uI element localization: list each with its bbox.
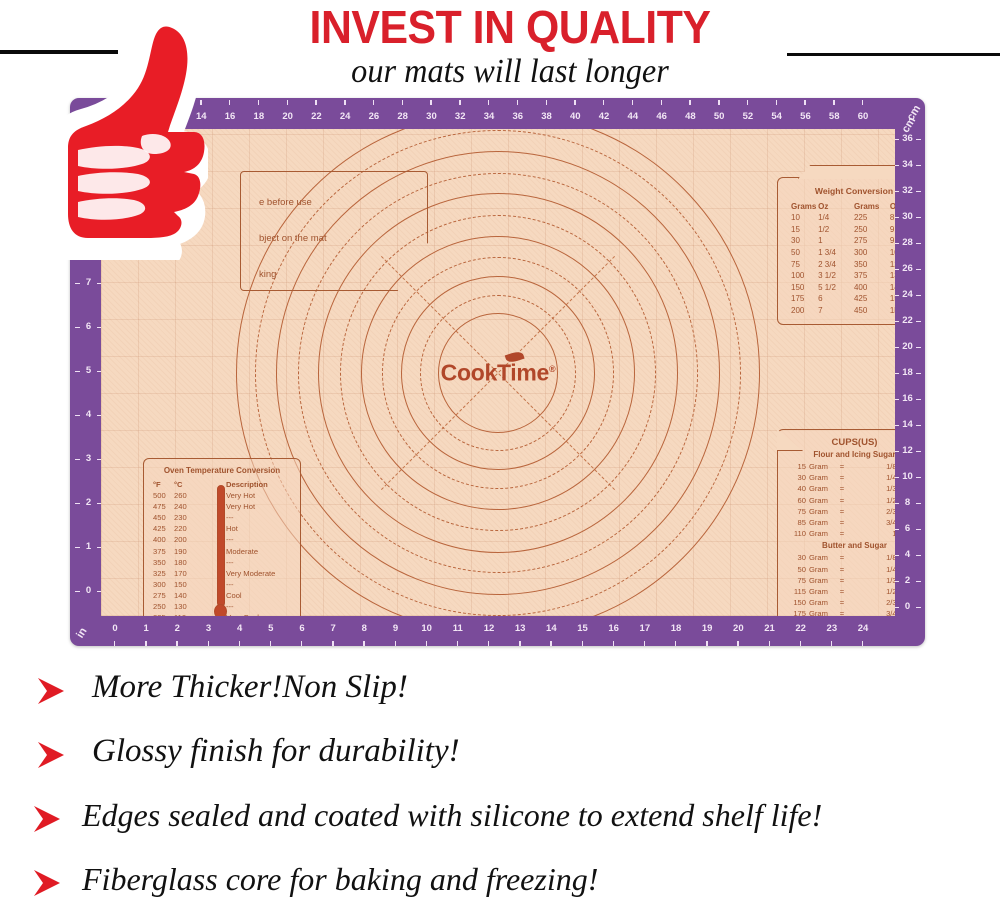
table-cell: = bbox=[836, 552, 848, 563]
in-left-tick: 2 bbox=[77, 496, 100, 510]
cm-top-tick: 60 bbox=[851, 106, 875, 128]
table-cell: 275 bbox=[150, 590, 174, 601]
table-cell: 225 bbox=[854, 213, 890, 225]
table-cell: 425 bbox=[854, 294, 890, 306]
table-cell: 40 bbox=[784, 483, 806, 494]
logo-text: CookTime bbox=[441, 359, 549, 385]
table-cell: 60 bbox=[784, 495, 806, 506]
table-cell: 1 bbox=[818, 236, 854, 248]
cm-right-tick: 18 bbox=[896, 366, 919, 380]
table-cell: 2 3/4 bbox=[818, 259, 854, 271]
cm-top-tick: 20 bbox=[276, 106, 300, 128]
table-cell: 1lb bbox=[890, 305, 895, 317]
table-cell: 170 bbox=[174, 568, 200, 579]
subheadline: our mats will last longer bbox=[235, 53, 786, 91]
table-row: 1003 1/237513 bbox=[785, 271, 895, 283]
in-bottom-tick: 19 bbox=[695, 618, 719, 640]
in-bottom-tick: 17 bbox=[633, 618, 657, 640]
table-cell: 110 bbox=[784, 528, 806, 539]
table-cell: Gram bbox=[806, 517, 836, 528]
thermometer-stem bbox=[217, 485, 225, 607]
table-cell: Gram bbox=[806, 564, 836, 575]
oven-temperature-panel: Oven Temperature Conversion °F°CDescript… bbox=[143, 458, 301, 616]
cooktime-logo: CookTime® bbox=[441, 359, 556, 386]
table-row: 3012759 3/4 bbox=[785, 236, 895, 248]
table-cell: 1/2 bbox=[818, 224, 854, 236]
table-cell: 2/3 cup bbox=[848, 506, 895, 517]
table-cell: 150 bbox=[174, 579, 200, 590]
table-cell: = bbox=[836, 575, 848, 586]
cm-right-tick: 12 bbox=[896, 444, 919, 458]
table-cell: 50 bbox=[785, 247, 818, 259]
oven-temperature-title: Oven Temperature Conversion bbox=[150, 466, 294, 475]
cm-right-tick: 24 bbox=[896, 288, 919, 302]
table-row: 501 3/430010 1/2 bbox=[785, 247, 895, 259]
play-arrow-icon bbox=[34, 870, 60, 896]
table-cell: 240 bbox=[174, 501, 200, 512]
list-item: 115Gram=1/2 cup bbox=[784, 586, 895, 597]
play-arrow-icon bbox=[38, 742, 64, 768]
cm-right-tick: 16 bbox=[896, 392, 919, 406]
cm-right-tick: 32 bbox=[896, 184, 919, 198]
table-cell: 260 bbox=[174, 490, 200, 501]
in-left-tick: 4 bbox=[77, 408, 100, 422]
table-cell: 300 bbox=[150, 579, 174, 590]
care-note-line-1: e before use bbox=[259, 196, 421, 210]
cm-right-tick: 2 bbox=[896, 574, 919, 588]
cm-top-tick: 24 bbox=[333, 106, 357, 128]
table-cell: 190 bbox=[174, 546, 200, 557]
care-note-line-2: bject on the mat bbox=[259, 232, 421, 246]
cm-top-tick: 28 bbox=[391, 106, 415, 128]
table-cell: 1/8 cup bbox=[848, 552, 895, 563]
cm-top-tick: 18 bbox=[247, 106, 271, 128]
table-cell: 14 bbox=[890, 282, 895, 294]
table-cell: 9 bbox=[890, 224, 895, 236]
column-header: Grams bbox=[785, 201, 818, 213]
list-item: 75Gram=2/3 cup bbox=[784, 506, 895, 517]
cm-top-tick: 26 bbox=[362, 106, 386, 128]
in-left-tick: 0 bbox=[77, 584, 100, 598]
table-cell: 6 bbox=[818, 294, 854, 306]
table-cell: 50 bbox=[784, 564, 806, 575]
mat-surface: CookTime® e before use bject on the mat … bbox=[101, 129, 895, 616]
feature-list: More Thicker!Non Slip! Glossy finish for… bbox=[0, 660, 1000, 916]
list-item: Edges sealed and coated with silicone to… bbox=[0, 788, 1000, 852]
cm-right-tick: 14 bbox=[896, 418, 919, 432]
cm-right-tick: 30 bbox=[896, 210, 919, 224]
table-cell: 450 bbox=[150, 512, 174, 523]
in-bottom-tick: 9 bbox=[384, 618, 408, 640]
in-bottom-tick: 1 bbox=[134, 618, 158, 640]
table-cell: Gram bbox=[806, 472, 836, 483]
table-cell: 200 bbox=[174, 534, 200, 545]
table-row: 175642515 bbox=[785, 294, 895, 306]
table-cell: = bbox=[836, 597, 848, 608]
column-header: Grams bbox=[854, 201, 890, 213]
in-bottom-tick: 24 bbox=[851, 618, 875, 640]
table-cell: 200 bbox=[785, 305, 818, 317]
table-cell: 8 bbox=[890, 213, 895, 225]
table-cell: Gram bbox=[806, 586, 836, 597]
list-item: 15Gram=1/8 cup bbox=[784, 461, 895, 472]
table-cell: 350 bbox=[150, 557, 174, 568]
table-cell: Gram bbox=[806, 552, 836, 563]
in-left-tick: 1 bbox=[77, 540, 100, 554]
cm-right-tick: 26 bbox=[896, 262, 919, 276]
in-bottom-tick: 18 bbox=[664, 618, 688, 640]
care-note-line-3: king bbox=[259, 268, 421, 282]
list-item: More Thicker!Non Slip! bbox=[0, 660, 1000, 724]
in-bottom-tick: 16 bbox=[602, 618, 626, 640]
table-cell: 225 bbox=[150, 612, 174, 616]
list-item: 40Gram=1/3 cup bbox=[784, 483, 895, 494]
table-row: 1505 1/240014 bbox=[785, 282, 895, 294]
table-cell: = bbox=[836, 528, 848, 539]
table-cell: 1/8 cup bbox=[848, 461, 895, 472]
table-cell: 140 bbox=[174, 590, 200, 601]
ruler-right-cm: 024681012141618202224262830323436cm bbox=[896, 129, 919, 616]
cm-right-tick: 0 bbox=[896, 600, 919, 614]
cm-top-tick: 50 bbox=[707, 106, 731, 128]
headline: INVEST IN QUALITY bbox=[255, 3, 765, 51]
table-cell: 400 bbox=[150, 534, 174, 545]
table-cell: 3 1/2 bbox=[818, 271, 854, 283]
table-cell: 30 bbox=[784, 472, 806, 483]
table-cell: 300 bbox=[854, 247, 890, 259]
cm-top-tick: 48 bbox=[678, 106, 702, 128]
cm-right-tick: 22 bbox=[896, 314, 919, 328]
column-header: °F bbox=[150, 479, 174, 490]
list-item: 85Gram=3/4 cup bbox=[784, 517, 895, 528]
table-cell: 325 bbox=[150, 568, 174, 579]
panel-notch bbox=[798, 165, 895, 179]
registered-mark: ® bbox=[549, 363, 555, 373]
feature-text: More Thicker!Non Slip! bbox=[92, 664, 408, 710]
in-bottom-tick: 5 bbox=[259, 618, 283, 640]
ruler-top-cm: 8101214161820222426283032343638404244464… bbox=[101, 106, 895, 128]
feature-text: Fiberglass core for baking and freezing! bbox=[82, 856, 598, 902]
table-cell: 1/2 cup bbox=[848, 586, 895, 597]
table-cell: 150 bbox=[785, 282, 818, 294]
weight-conversion-panel: Weight Conversion GramsOzGramsOz101/4225… bbox=[777, 177, 895, 325]
cm-right-tick: 8 bbox=[896, 496, 919, 510]
in-bottom-tick: 4 bbox=[228, 618, 252, 640]
table-row: 101/42258 bbox=[785, 213, 895, 225]
table-cell: 75 bbox=[784, 575, 806, 586]
list-item: 75Gram=1/3 cup bbox=[784, 575, 895, 586]
table-row: 151/22509 bbox=[785, 224, 895, 236]
table-cell: 425 bbox=[150, 523, 174, 534]
table-cell: 180 bbox=[174, 557, 200, 568]
table-cell: Gram bbox=[806, 495, 836, 506]
in-bottom-tick: 6 bbox=[290, 618, 314, 640]
cups-section1-title: Flour and Icing Sugar bbox=[784, 450, 895, 459]
cm-top-tick: 40 bbox=[563, 106, 587, 128]
table-cell: 275 bbox=[854, 236, 890, 248]
in-bottom-tick: 22 bbox=[789, 618, 813, 640]
column-header: °C bbox=[174, 479, 200, 490]
table-cell: 150 bbox=[784, 597, 806, 608]
table-cell: 15 bbox=[784, 461, 806, 472]
list-item: 50Gram=1/4 cup bbox=[784, 564, 895, 575]
table-cell: 15 bbox=[785, 224, 818, 236]
table-cell: Gram bbox=[806, 528, 836, 539]
table-cell: 175 bbox=[785, 294, 818, 306]
cm-top-tick: 38 bbox=[535, 106, 559, 128]
list-item: 30Gram=1/8 cup bbox=[784, 552, 895, 563]
cm-top-tick: 34 bbox=[477, 106, 501, 128]
play-arrow-icon bbox=[38, 678, 64, 704]
thermometer-icon bbox=[214, 485, 227, 616]
table-cell: 175 bbox=[784, 608, 806, 616]
list-item: Glossy finish for durability! bbox=[0, 724, 1000, 788]
table-cell: Gram bbox=[806, 575, 836, 586]
list-item: 150Gram=2/3 cup bbox=[784, 597, 895, 608]
table-cell: Gram bbox=[806, 506, 836, 517]
in-left-tick: 3 bbox=[77, 452, 100, 466]
table-cell: 1 3/4 bbox=[818, 247, 854, 259]
cm-right-tick: 20 bbox=[896, 340, 919, 354]
table-cell: 230 bbox=[174, 512, 200, 523]
in-bottom-tick: 2 bbox=[165, 618, 189, 640]
in-bottom-tick: 0 bbox=[103, 618, 127, 640]
table-cell: 75 bbox=[785, 259, 818, 271]
cm-right-tick: 4 bbox=[896, 548, 919, 562]
in-left-tick: 6 bbox=[77, 320, 100, 334]
cm-top-tick: 44 bbox=[621, 106, 645, 128]
cm-right-tick: 34 bbox=[896, 158, 919, 172]
table-cell: 85 bbox=[784, 517, 806, 528]
in-bottom-tick: 11 bbox=[446, 618, 470, 640]
cm-top-tick: 30 bbox=[419, 106, 443, 128]
table-cell: 3/4 cup bbox=[848, 608, 895, 616]
table-cell: 1/3 cup bbox=[848, 575, 895, 586]
cm-top-tick: 58 bbox=[822, 106, 846, 128]
table-cell: 12 bbox=[890, 259, 895, 271]
weight-conversion-table: GramsOzGramsOz101/42258151/225093012759 … bbox=[785, 201, 895, 317]
in-bottom-tick: 20 bbox=[726, 618, 750, 640]
cm-top-tick: 42 bbox=[592, 106, 616, 128]
in-bottom-tick: 15 bbox=[571, 618, 595, 640]
in-bottom-tick: 23 bbox=[820, 618, 844, 640]
table-cell: = bbox=[836, 472, 848, 483]
table-cell: 450 bbox=[854, 305, 890, 317]
cm-top-tick: 22 bbox=[304, 106, 328, 128]
in-bottom-tick: 14 bbox=[539, 618, 563, 640]
thumbs-up-icon bbox=[58, 12, 208, 260]
table-cell: Gram bbox=[806, 461, 836, 472]
table-cell: 9 3/4 bbox=[890, 236, 895, 248]
table-cell: 3/4 cup bbox=[848, 517, 895, 528]
table-cell: 220 bbox=[174, 523, 200, 534]
table-cell: 1/4 bbox=[818, 213, 854, 225]
cm-right-tick: 28 bbox=[896, 236, 919, 250]
in-left-tick: 5 bbox=[77, 364, 100, 378]
cm-top-tick: 52 bbox=[736, 106, 760, 128]
in-left-tick: 7 bbox=[77, 276, 100, 290]
cm-top-tick: 16 bbox=[218, 106, 242, 128]
cm-top-tick: 54 bbox=[765, 106, 789, 128]
list-item: 30Gram=1/4 cup bbox=[784, 472, 895, 483]
table-cell: 1/2 cup bbox=[848, 495, 895, 506]
table-cell: 375 bbox=[150, 546, 174, 557]
cups-section2-title: Butter and Sugar bbox=[784, 541, 895, 550]
table-cell: 5 1/2 bbox=[818, 282, 854, 294]
table-cell: Gram bbox=[806, 483, 836, 494]
table-cell: 1/4 cup bbox=[848, 564, 895, 575]
table-cell: 100 bbox=[785, 271, 818, 283]
thermometer-bulb bbox=[214, 604, 227, 616]
table-cell: 130 bbox=[174, 601, 200, 612]
table-cell: Gram bbox=[806, 597, 836, 608]
feature-text: Glossy finish for durability! bbox=[92, 728, 460, 774]
table-cell: 30 bbox=[785, 236, 818, 248]
table-cell: = bbox=[836, 564, 848, 575]
in-bottom-tick: 12 bbox=[477, 618, 501, 640]
table-cell: 250 bbox=[854, 224, 890, 236]
table-cell: 75 bbox=[784, 506, 806, 517]
cm-right-tick: 6 bbox=[896, 522, 919, 536]
unit-label-in-bottom: in bbox=[74, 626, 89, 641]
weight-conversion-title: Weight Conversion bbox=[785, 186, 895, 196]
table-cell: Gram bbox=[806, 608, 836, 616]
table-cell: 13 bbox=[890, 271, 895, 283]
feature-text: Edges sealed and coated with silicone to… bbox=[82, 792, 822, 838]
table-cell: 250 bbox=[150, 601, 174, 612]
in-bottom-tick: 13 bbox=[508, 618, 532, 640]
cups-us-panel: CUPS(US) Flour and Icing Sugar 15Gram=1/… bbox=[777, 429, 895, 616]
column-header: Oz bbox=[890, 201, 895, 213]
table-cell: 30 bbox=[784, 552, 806, 563]
table-cell: = bbox=[836, 586, 848, 597]
in-bottom-tick: 21 bbox=[758, 618, 782, 640]
table-row: GramsOzGramsOz bbox=[785, 201, 895, 213]
table-cell: 115 bbox=[784, 586, 806, 597]
table-cell: 1/3 cup bbox=[848, 483, 895, 494]
table-cell: = bbox=[836, 495, 848, 506]
table-cell: 1/4 cup bbox=[848, 472, 895, 483]
in-bottom-tick: 8 bbox=[352, 618, 376, 640]
cm-top-tick: 56 bbox=[793, 106, 817, 128]
list-item: 60Gram=1/2 cup bbox=[784, 495, 895, 506]
list-item: Fiberglass core for baking and freezing! bbox=[0, 852, 1000, 916]
table-cell: 2/3 cup bbox=[848, 597, 895, 608]
table-cell: 7 bbox=[818, 305, 854, 317]
table-cell: 350 bbox=[854, 259, 890, 271]
table-cell: 10 bbox=[785, 213, 818, 225]
cm-top-tick: 32 bbox=[448, 106, 472, 128]
table-cell: 1 cup bbox=[848, 528, 895, 539]
in-bottom-tick: 3 bbox=[197, 618, 221, 640]
table-cell: 110 bbox=[174, 612, 200, 616]
table-cell: 15 bbox=[890, 294, 895, 306]
table-cell: 375 bbox=[854, 271, 890, 283]
table-cell: = bbox=[836, 608, 848, 616]
in-bottom-tick: 10 bbox=[415, 618, 439, 640]
table-cell: = bbox=[836, 506, 848, 517]
table-cell: 400 bbox=[854, 282, 890, 294]
play-arrow-icon bbox=[34, 806, 60, 832]
cm-top-tick: 36 bbox=[506, 106, 530, 128]
table-cell: 500 bbox=[150, 490, 174, 501]
column-header: Oz bbox=[818, 201, 854, 213]
cm-top-tick: 46 bbox=[650, 106, 674, 128]
cm-right-tick: 10 bbox=[896, 470, 919, 484]
list-item: 175Gram=3/4 cup bbox=[784, 608, 895, 616]
table-row: 752 3/435012 bbox=[785, 259, 895, 271]
table-cell: = bbox=[836, 461, 848, 472]
in-bottom-tick: 7 bbox=[321, 618, 345, 640]
table-cell: 475 bbox=[150, 501, 174, 512]
list-item: 110Gram=1 cup bbox=[784, 528, 895, 539]
header-rule-right bbox=[787, 53, 1000, 56]
table-cell: = bbox=[836, 483, 848, 494]
ruler-bottom-inches: 0123456789101112131415161718192021222324 bbox=[101, 618, 895, 640]
table-cell: = bbox=[836, 517, 848, 528]
table-row: 20074501lb bbox=[785, 305, 895, 317]
table-cell: 10 1/2 bbox=[890, 247, 895, 259]
cups-us-title: CUPS(US) bbox=[784, 437, 895, 448]
